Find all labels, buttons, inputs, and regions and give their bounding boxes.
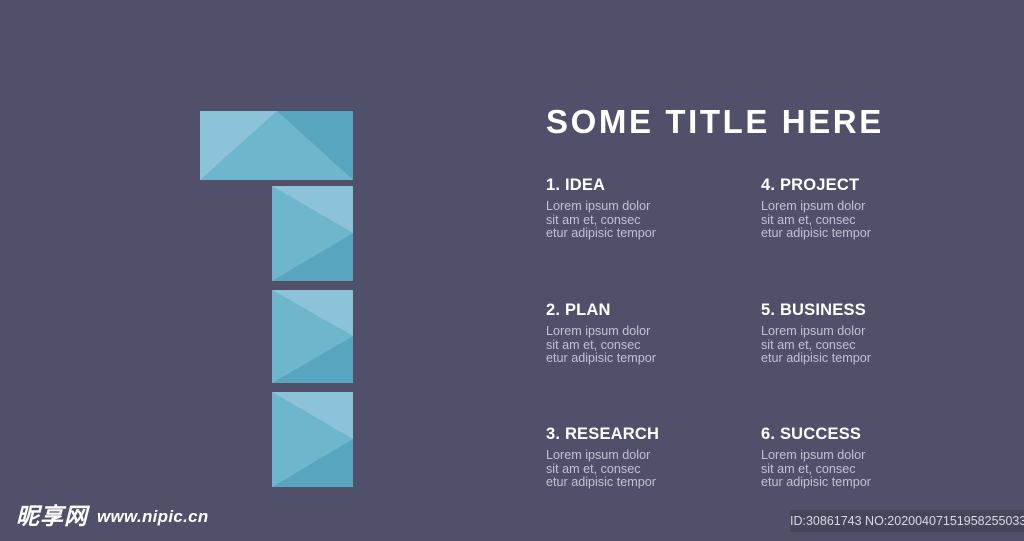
image-id-label: ID:30861743 NO:20200407151958255033 [790,510,1024,532]
item-heading: 4. PROJECT [761,176,976,195]
item-body-line: etur adipisic tempor [761,476,976,490]
item-body-line: etur adipisic tempor [546,352,761,366]
item-plan: 2. PLAN Lorem ipsum dolor sit am et, con… [546,301,761,366]
item-body-line: sit am et, consec [761,339,976,353]
item-body-line: sit am et, consec [761,214,976,228]
watermark-url: www.nipic.cn [97,508,209,525]
item-body-line: Lorem ipsum dolor [761,449,976,463]
item-body-line: Lorem ipsum dolor [546,449,761,463]
item-body-line: Lorem ipsum dolor [761,200,976,214]
item-body-line: sit am et, consec [546,214,761,228]
item-body: Lorem ipsum dolor sit am et, consec etur… [761,449,976,490]
item-body-line: sit am et, consec [761,463,976,477]
item-body: Lorem ipsum dolor sit am et, consec etur… [546,449,761,490]
faceted-block-four [272,392,353,487]
item-body-line: etur adipisic tempor [761,227,976,241]
item-body-line: etur adipisic tempor [761,352,976,366]
facet-shape-four [272,392,353,487]
faceted-block-stack [0,0,520,500]
faceted-block-two [272,186,353,281]
item-body-line: Lorem ipsum dolor [546,325,761,339]
watermark-logo-text: 昵享网 [16,505,88,528]
item-heading: 1. IDEA [546,176,761,195]
item-body-line: etur adipisic tempor [546,227,761,241]
item-business: 5. BUSINESS Lorem ipsum dolor sit am et,… [761,301,976,366]
item-idea: 1. IDEA Lorem ipsum dolor sit am et, con… [546,176,761,241]
watermark: 昵享网 www.nipic.cn [16,505,209,528]
item-success: 6. SUCCESS Lorem ipsum dolor sit am et, … [761,425,976,490]
slide-canvas: SOME TITLE HERE 1. IDEA Lorem ipsum dolo… [0,0,1024,541]
item-heading: 2. PLAN [546,301,761,320]
faceted-block-top [200,111,353,180]
item-body: Lorem ipsum dolor sit am et, consec etur… [761,325,976,366]
item-body-line: Lorem ipsum dolor [761,325,976,339]
item-heading: 5. BUSINESS [761,301,976,320]
facet-shape-two [272,186,353,281]
item-body-line: etur adipisic tempor [546,476,761,490]
item-body: Lorem ipsum dolor sit am et, consec etur… [546,200,761,241]
item-project: 4. PROJECT Lorem ipsum dolor sit am et, … [761,176,976,241]
facet-shape-top [200,111,353,180]
item-body-line: sit am et, consec [546,339,761,353]
slide-title: SOME TITLE HERE [546,103,884,141]
item-body: Lorem ipsum dolor sit am et, consec etur… [761,200,976,241]
item-heading: 6. SUCCESS [761,425,976,444]
item-body-line: Lorem ipsum dolor [546,200,761,214]
item-body: Lorem ipsum dolor sit am et, consec etur… [546,325,761,366]
faceted-block-three [272,290,353,383]
item-heading: 3. RESEARCH [546,425,761,444]
item-body-line: sit am et, consec [546,463,761,477]
facet-shape-three [272,290,353,383]
item-research: 3. RESEARCH Lorem ipsum dolor sit am et,… [546,425,761,490]
